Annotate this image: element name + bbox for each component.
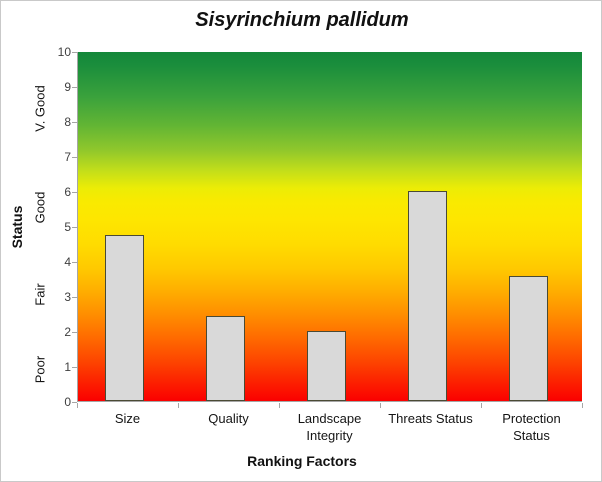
y-tick-label-9: 9 [49,81,71,93]
x-tick-mark-5 [582,403,583,408]
chart-title: Sisyrinchium pallidum [1,9,602,32]
x-tick-label-size-line1: Size [77,410,178,427]
x-tick-label-threats-status: Threats Status [380,410,481,427]
bar-quality[interactable] [206,316,245,401]
x-tick-label-landscape-integrity-line2: Integrity [279,427,380,444]
y-tick-label-4: 4 [49,256,71,268]
y-tick-label-7: 7 [49,151,71,163]
bar-landscape-integrity[interactable] [307,331,346,401]
y-axis-title: Status [9,197,25,257]
y-tick-label-2: 2 [49,326,71,338]
x-tick-label-protection-status: Protection Status [481,410,582,444]
y-tick-label-10: 10 [49,46,71,58]
x-axis-title: Ranking Factors [1,453,602,469]
y-tick-label-5: 5 [49,221,71,233]
x-tick-mark-1 [178,403,179,408]
x-tick-mark-2 [279,403,280,408]
x-tick-label-protection-status-line1: Protection [481,410,582,427]
bar-size[interactable] [105,235,144,401]
x-tick-label-quality-line1: Quality [178,410,279,427]
chart-frame: Sisyrinchium pallidum Status V. Good Goo… [0,0,602,482]
x-tick-label-size: Size [77,410,178,427]
y-band-label-good: Good [33,172,48,244]
y-tick-label-6: 6 [49,186,71,198]
bar-protection-status[interactable] [509,276,548,401]
y-band-label-vgood: V. Good [33,73,48,145]
y-tick-label-0: 0 [49,396,71,408]
y-band-label-poor: Poor [33,334,48,406]
x-tick-label-protection-status-line2: Status [481,427,582,444]
x-tick-mark-4 [481,403,482,408]
y-tick-label-1: 1 [49,361,71,373]
y-tick-label-3: 3 [49,291,71,303]
x-tick-label-quality: Quality [178,410,279,427]
plot-area [77,52,582,402]
x-tick-label-threats-status-line1: Threats Status [380,410,481,427]
x-tick-label-landscape-integrity-line1: Landscape [279,410,380,427]
bar-threats-status[interactable] [408,191,447,401]
y-band-label-fair: Fair [33,259,48,331]
x-tick-mark-3 [380,403,381,408]
x-tick-mark-0 [77,403,78,408]
x-tick-label-landscape-integrity: Landscape Integrity [279,410,380,444]
y-tick-label-8: 8 [49,116,71,128]
